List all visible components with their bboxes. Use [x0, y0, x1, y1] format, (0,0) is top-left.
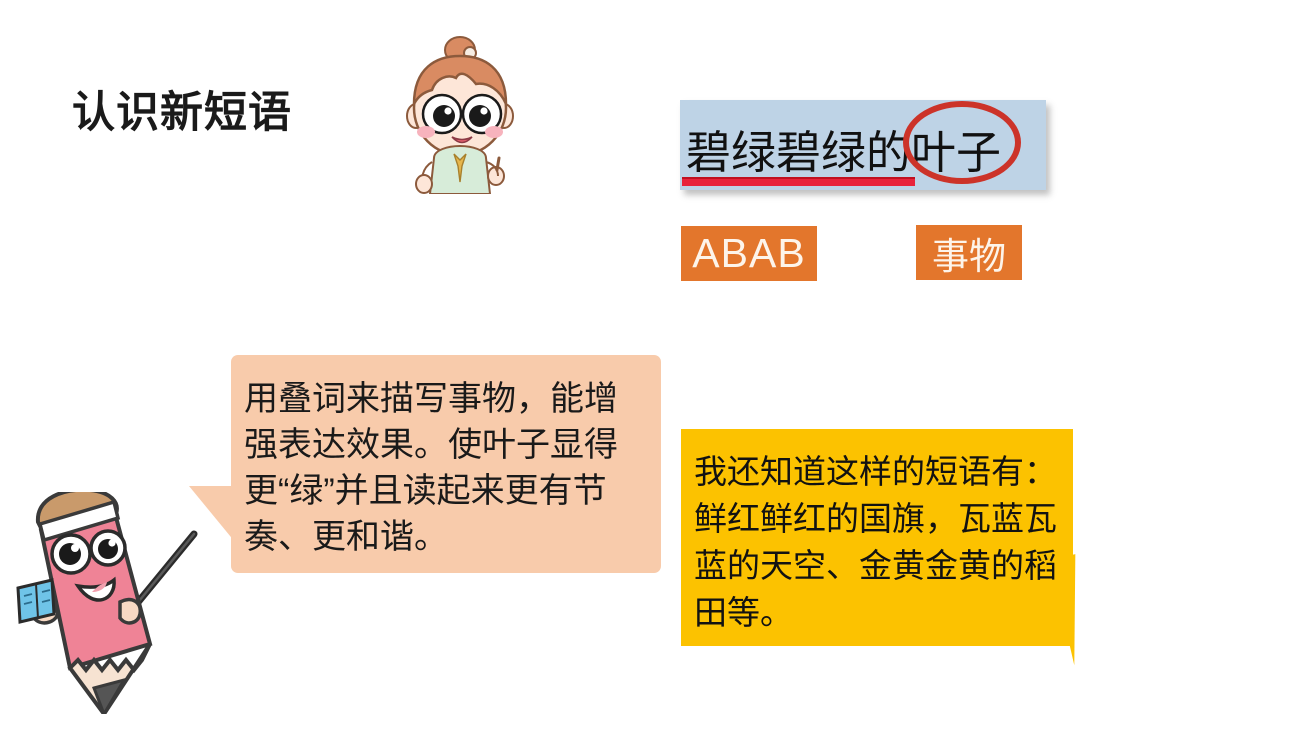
peach-bubble-text: 用叠词来描写事物，能增强表达效果。使叶子显得更“绿”并且读起来更有节奏、更和谐。: [244, 376, 644, 560]
book-icon: [18, 580, 54, 622]
phrase-underline: [682, 177, 915, 186]
tag-object: 事物: [916, 225, 1022, 280]
cartoon-girl-illustration: [396, 34, 524, 194]
yellow-bubble-text: 我还知道这样的短语有： 鲜红鲜红的国旗，瓦蓝瓦蓝的天空、金黄金黄的稻田等。: [694, 448, 1066, 636]
phrase-circle-annotation: [903, 101, 1021, 184]
slide-canvas: 认识新短语: [0, 0, 1296, 729]
pencil-mascot-illustration: [8, 492, 240, 714]
tag-abab: ABAB: [681, 226, 817, 281]
page-title: 认识新短语: [72, 78, 292, 140]
